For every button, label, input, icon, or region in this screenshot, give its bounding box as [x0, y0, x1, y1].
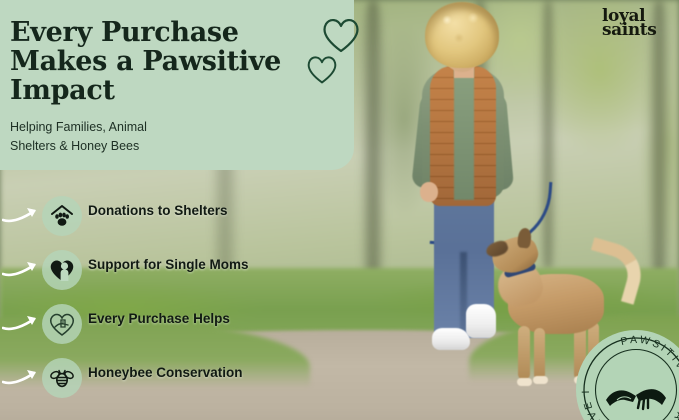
- svg-text:PAWSITIVE IMPACT ·: PAWSITIVE IMPACT ·: [620, 334, 679, 420]
- arrow-right-icon: [2, 258, 42, 285]
- brand-logo[interactable]: loyal saints: [602, 8, 674, 39]
- arrow-right-icon: [2, 312, 42, 339]
- heart-mother-icon: [42, 250, 82, 290]
- house-paw-icon: [42, 196, 82, 236]
- hand-and-paw-icon: [606, 389, 666, 409]
- list-item-label: Support for Single Moms: [88, 257, 249, 272]
- page-title: Every Purchase Makes a Pawsitive Impact: [10, 18, 340, 105]
- dog-ear: [517, 227, 532, 248]
- headline-card: Every Purchase Makes a Pawsitive Impact …: [0, 0, 354, 170]
- headline-line-3: Impact: [10, 76, 340, 105]
- subtitle-line-2: Shelters & Honey Bees: [10, 137, 340, 156]
- list-item: Honeybee Conservation: [0, 354, 300, 408]
- sneaker-left: [432, 328, 470, 350]
- list-item-label: Donations to Shelters: [88, 203, 228, 218]
- tree-trunk: [648, 0, 670, 290]
- arrow-right-icon: [2, 204, 42, 231]
- tree-trunk: [360, 0, 386, 300]
- headline-line-2: Makes a Pawsitive: [10, 47, 340, 76]
- list-item: Donations to Shelters: [0, 192, 300, 246]
- headline-line-1: Every Purchase: [10, 18, 340, 47]
- list-item: Support for Single Moms: [0, 246, 300, 300]
- hand: [420, 182, 438, 202]
- dog-paw: [533, 376, 548, 384]
- page-subtitle: Helping Families, Animal Shelters & Hone…: [10, 118, 340, 156]
- heart-hand-coin-icon: [42, 304, 82, 344]
- status-badge: PAWSITIVE IMPACT · PAWSITIVE IMPACT ·: [576, 330, 679, 420]
- logo-line-2: saints: [602, 22, 674, 39]
- pawsitive-impact-seal: PAWSITIVE IMPACT · PAWSITIVE IMPACT ·: [576, 330, 679, 420]
- dog-paw: [517, 378, 532, 386]
- tree-trunk: [540, 0, 556, 270]
- dog-leg: [534, 328, 545, 380]
- badge-ring-text-1: PAWSITIVE IMPACT ·: [620, 334, 679, 420]
- subtitle-line-1: Helping Families, Animal: [10, 118, 340, 137]
- list-item: Every Purchase Helps: [0, 300, 300, 354]
- feature-list: Donations to Shelters Support for Single…: [0, 192, 300, 408]
- curly-hair: [425, 2, 499, 68]
- dog-leg: [518, 326, 530, 380]
- promotional-banner: Every Purchase Makes a Pawsitive Impact …: [0, 0, 679, 420]
- vest-opening: [454, 68, 474, 200]
- list-item-label: Every Purchase Helps: [88, 311, 230, 326]
- list-item-label: Honeybee Conservation: [88, 365, 243, 380]
- arrow-right-icon: [2, 366, 42, 393]
- bee-icon: [42, 358, 82, 398]
- headline-card-content: Every Purchase Makes a Pawsitive Impact …: [10, 18, 340, 156]
